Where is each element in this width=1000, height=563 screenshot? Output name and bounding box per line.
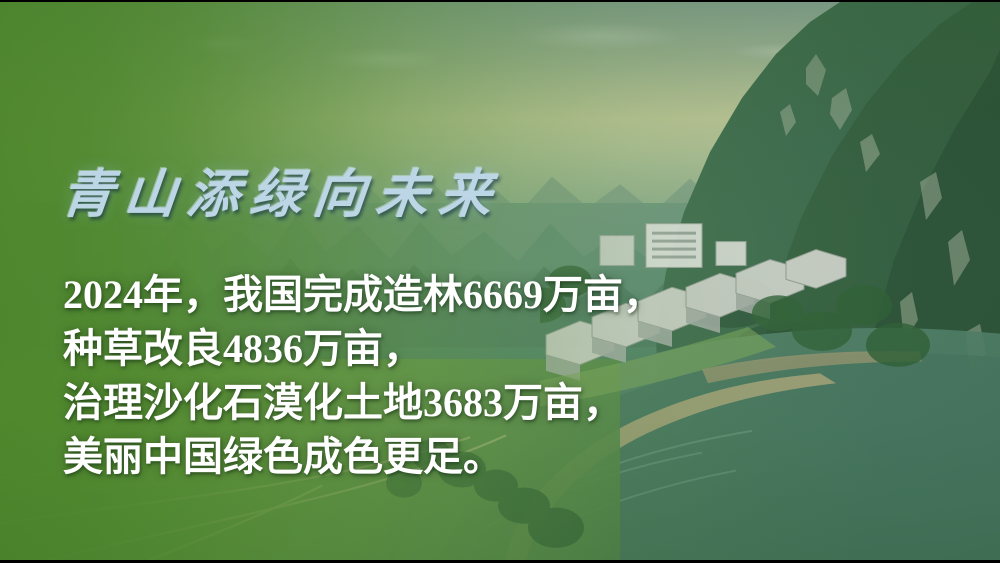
letterbox-top: [0, 0, 1000, 2]
body-line-2: 种草改良4836万亩，: [63, 322, 663, 376]
text-content: 青山添绿向未来 2024年，我国完成造林6669万亩， 种草改良4836万亩， …: [0, 0, 1000, 563]
page-title: 青山添绿向未来: [58, 152, 507, 227]
body-line-3: 治理沙化石漠化土地3683万亩，: [63, 376, 663, 430]
body-line-4: 美丽中国绿色成色更足。: [63, 430, 663, 484]
body-line-1: 2024年，我国完成造林6669万亩，: [63, 268, 663, 322]
video-frame: 青山添绿向未来 2024年，我国完成造林6669万亩， 种草改良4836万亩， …: [0, 0, 1000, 563]
body-text-block: 2024年，我国完成造林6669万亩， 种草改良4836万亩， 治理沙化石漠化土…: [63, 268, 663, 484]
